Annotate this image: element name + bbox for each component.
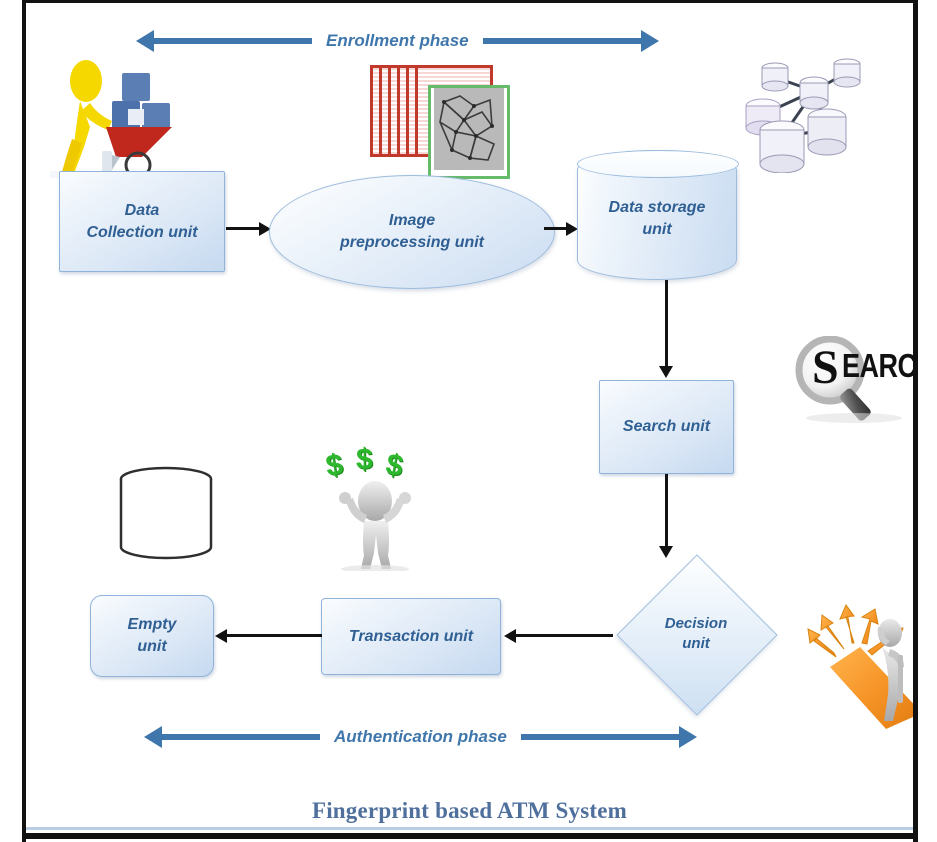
money-figure-icon: $ $ $ [314, 443, 436, 571]
edge-transaction-to-empty-line [226, 634, 322, 637]
phase-line-left [154, 38, 312, 44]
phase-arrowhead-right-icon [679, 726, 697, 748]
edge-decision-to-transaction-line [513, 634, 613, 637]
phase-line-right [483, 38, 641, 44]
edge-transaction-to-empty-arrowhead-icon [215, 629, 227, 643]
figure-frame: Enrollment phase [0, 0, 937, 842]
node-data-collection-unit[interactable]: Data Collection unit [59, 171, 225, 272]
node-label-line2: Collection unit [86, 224, 197, 241]
database-cluster-icon [726, 51, 866, 173]
node-label-line2: preprocessing unit [340, 234, 484, 251]
node-label: Transaction unit [349, 626, 473, 648]
node-empty-unit[interactable]: Empty unit [90, 595, 214, 677]
node-label-line1: Image [389, 212, 435, 229]
diagram-canvas: Enrollment phase [26, 3, 913, 833]
edge-decision-to-transaction-arrowhead-icon [504, 629, 516, 643]
node-decision-unit[interactable]: Decision unit [617, 555, 775, 713]
node-label-line1: Data [125, 202, 160, 219]
edge-storage-to-search-line [665, 280, 668, 368]
enrollment-phase-arrow: Enrollment phase [136, 30, 676, 52]
worker-wheelbarrow-icon [50, 53, 180, 178]
search-word-label: EARCH [842, 347, 913, 386]
enrollment-phase-label: Enrollment phase [312, 31, 483, 51]
phase-arrowhead-right-icon [641, 30, 659, 52]
node-label-line1: Decision [665, 615, 728, 632]
node-label-line1: Data storage [609, 199, 706, 216]
search-initial-letter: S [812, 344, 839, 392]
node-data-storage-unit[interactable]: Data storage unit [577, 150, 737, 280]
node-image-preprocessing-unit[interactable]: Image preprocessing unit [269, 175, 555, 289]
edge-collection-to-preprocessing-line [226, 227, 260, 230]
frame-border-right [913, 0, 918, 842]
node-label: Empty unit [128, 614, 177, 657]
node-label-line2: unit [682, 635, 710, 652]
node-search-unit[interactable]: Search unit [599, 380, 734, 474]
node-transaction-unit[interactable]: Transaction unit [321, 598, 501, 675]
node-label: Image preprocessing unit [340, 210, 484, 253]
fingerprint-card-stack-icon [366, 59, 536, 177]
node-label: Search unit [623, 416, 710, 438]
node-label-line2: unit [642, 221, 671, 238]
phase-arrowhead-left-icon [144, 726, 162, 748]
cylinder-top-ellipse [577, 150, 739, 178]
phase-arrowhead-left-icon [136, 30, 154, 52]
frame-border-bottom [22, 833, 918, 839]
edge-search-to-decision-line [665, 474, 668, 548]
phase-line-left [162, 734, 320, 740]
node-label-line1: Empty [128, 616, 177, 633]
caption-underline [26, 827, 913, 830]
edge-storage-to-search-arrowhead-icon [659, 366, 673, 378]
phase-line-right [521, 734, 679, 740]
figure-caption: Fingerprint based ATM System [26, 798, 913, 824]
search-magnifier-icon: S EARCH [794, 336, 913, 424]
node-label: Decision unit [617, 555, 775, 713]
empty-cylinder-icon [111, 465, 221, 565]
node-label: Data storage unit [609, 189, 706, 240]
authentication-phase-arrow: Authentication phase [144, 726, 722, 748]
node-label-line2: unit [137, 638, 166, 655]
node-label: Data Collection unit [86, 200, 197, 243]
choice-figure-icon [774, 601, 913, 731]
authentication-phase-label: Authentication phase [320, 727, 521, 747]
